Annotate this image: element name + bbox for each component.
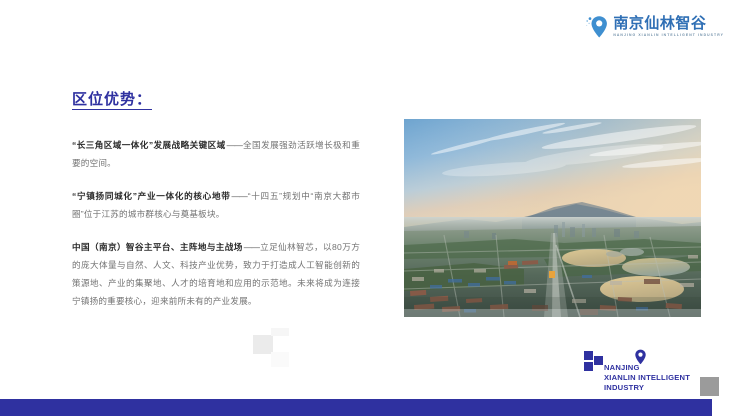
paragraph-1: “长三角区域一体化”发展战略关键区域——全国发展强劲活跃增长极和重要的空间。: [72, 136, 360, 172]
header-logo-cn: 南京仙林智谷: [613, 16, 724, 31]
footer-logo-line3: INDUSTRY: [604, 383, 690, 393]
page-title-text: 区位优势：: [72, 91, 152, 110]
footer-logo-line2: XIANLIN INTELLIGENT: [604, 373, 690, 383]
footer-accent-block: [700, 377, 719, 396]
footer-logo-line1: NANJING: [604, 363, 690, 373]
location-pin-icon: [586, 14, 608, 40]
footer-logo-squares-icon: [584, 351, 606, 373]
paragraph-2: “宁镇扬同城化”产业一体化的核心地带——“十四五”规划中“南京大都市圈”位于江苏…: [72, 187, 360, 223]
page-title: 区位优势：: [72, 88, 152, 109]
paragraph-2-dash: ——: [231, 191, 248, 201]
paragraph-3: 中国（南京）智谷主平台、主阵地与主战场——立足仙林智芯，以80万方的庞大体量与自…: [72, 238, 360, 310]
decorative-square-large: [253, 335, 273, 354]
paragraph-1-dash: ——: [226, 140, 243, 150]
paragraph-1-lead: “长三角区域一体化”发展战略关键区域: [72, 140, 226, 150]
header-logo-text: 南京仙林智谷 NANJING XIANLIN INTELLIGENT INDUS…: [613, 16, 724, 37]
decorative-square-top: [271, 328, 289, 336]
aerial-cityscape-photo: [404, 119, 701, 317]
body-copy: “长三角区域一体化”发展战略关键区域——全国发展强劲活跃增长极和重要的空间。 “…: [72, 136, 360, 310]
footer-bar: [0, 399, 712, 416]
paragraph-2-lead: “宁镇扬同城化”产业一体化的核心地带: [72, 191, 231, 201]
footer-brand-logo: NANJING XIANLIN INTELLIGENT INDUSTRY: [584, 349, 696, 389]
footer-logo-text: NANJING XIANLIN INTELLIGENT INDUSTRY: [604, 363, 690, 393]
paragraph-3-dash: ——: [243, 242, 260, 252]
decorative-square-bottom: [271, 352, 289, 367]
paragraph-3-lead: 中国（南京）智谷主平台、主阵地与主战场: [72, 242, 243, 252]
header-brand-logo: 南京仙林智谷 NANJING XIANLIN INTELLIGENT INDUS…: [586, 14, 724, 40]
slide-canvas: 南京仙林智谷 NANJING XIANLIN INTELLIGENT INDUS…: [0, 0, 740, 416]
header-logo-en: NANJING XIANLIN INTELLIGENT INDUSTRY: [613, 34, 724, 38]
